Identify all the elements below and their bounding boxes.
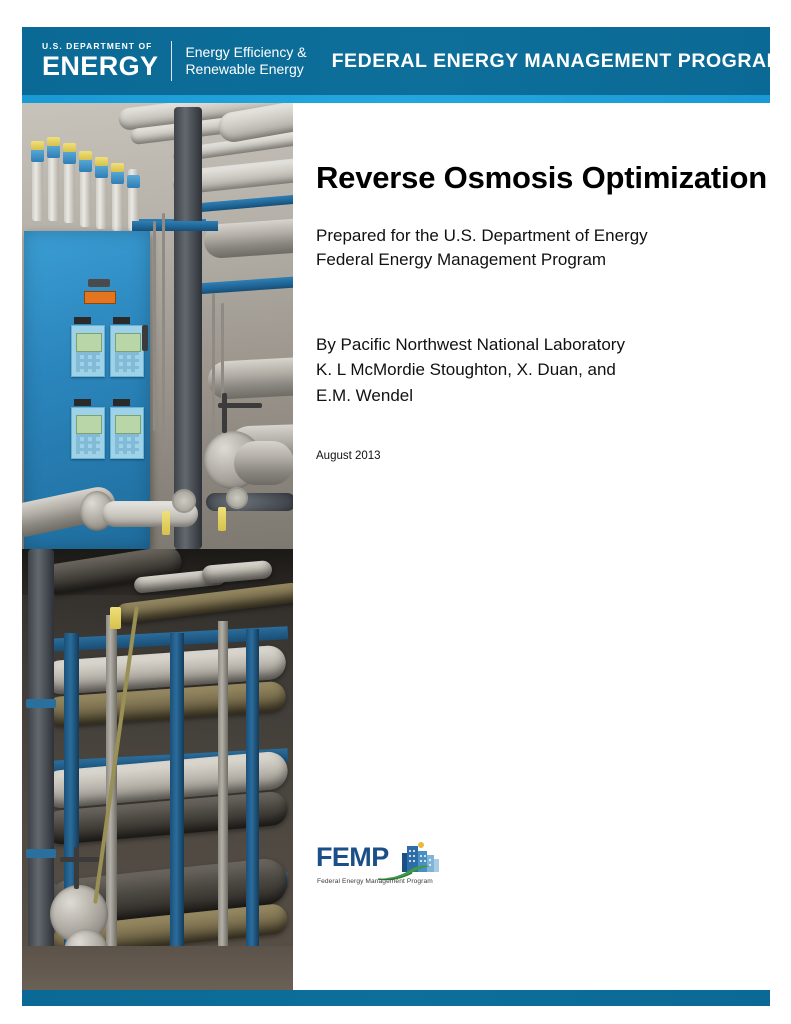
program-title: FEDERAL ENERGY MANAGEMENT PROGRAM (332, 50, 784, 73)
high-voltage-label (84, 291, 116, 304)
document-title: Reverse Osmosis Optimization (316, 103, 771, 198)
cover-photo-column (22, 103, 293, 990)
document-subtitle: Prepared for the U.S. Department of Ener… (316, 198, 771, 273)
doe-office-line-2: Renewable Energy (185, 61, 306, 79)
header-banner: U.S. DEPARTMENT OF ENERGY Energy Efficie… (22, 27, 770, 95)
doe-divider (171, 41, 172, 81)
publication-date: August 2013 (316, 408, 771, 462)
document-cover-page: U.S. DEPARTMENT OF ENERGY Energy Efficie… (0, 0, 791, 1024)
doe-department-line: U.S. DEPARTMENT OF (42, 42, 158, 51)
doe-energy-text: ENERGY (42, 53, 158, 80)
subtitle-line-2: Federal Energy Management Program (316, 248, 771, 273)
doe-office-line-1: Energy Efficiency & (185, 44, 306, 62)
femp-tagline: Federal Energy Management Program (317, 878, 433, 885)
photo-ro-control-panel (22, 103, 293, 549)
femp-logo: FEMP Federal Energy Management Program (316, 840, 446, 890)
doe-logo: U.S. DEPARTMENT OF ENERGY Energy Efficie… (42, 27, 307, 95)
author-names-line-1: K. L McMordie Stoughton, X. Duan, and (316, 357, 771, 383)
photo-top-scene (22, 103, 293, 549)
footer-bar (22, 990, 770, 1006)
author-organization: By Pacific Northwest National Laboratory (316, 332, 771, 358)
doe-office-name: Energy Efficiency & Renewable Energy (172, 44, 306, 79)
subtitle-line-1: Prepared for the U.S. Department of Ener… (316, 224, 771, 249)
header-accent-stripe (22, 95, 770, 103)
author-block: By Pacific Northwest National Laboratory… (316, 273, 771, 409)
photo-bottom-scene (22, 549, 293, 990)
cover-content: Reverse Osmosis Optimization Prepared fo… (316, 103, 771, 462)
author-names-line-2: E.M. Wendel (316, 383, 771, 409)
doe-wordmark: U.S. DEPARTMENT OF ENERGY (42, 42, 171, 80)
photo-ro-membrane-rack (22, 549, 293, 990)
